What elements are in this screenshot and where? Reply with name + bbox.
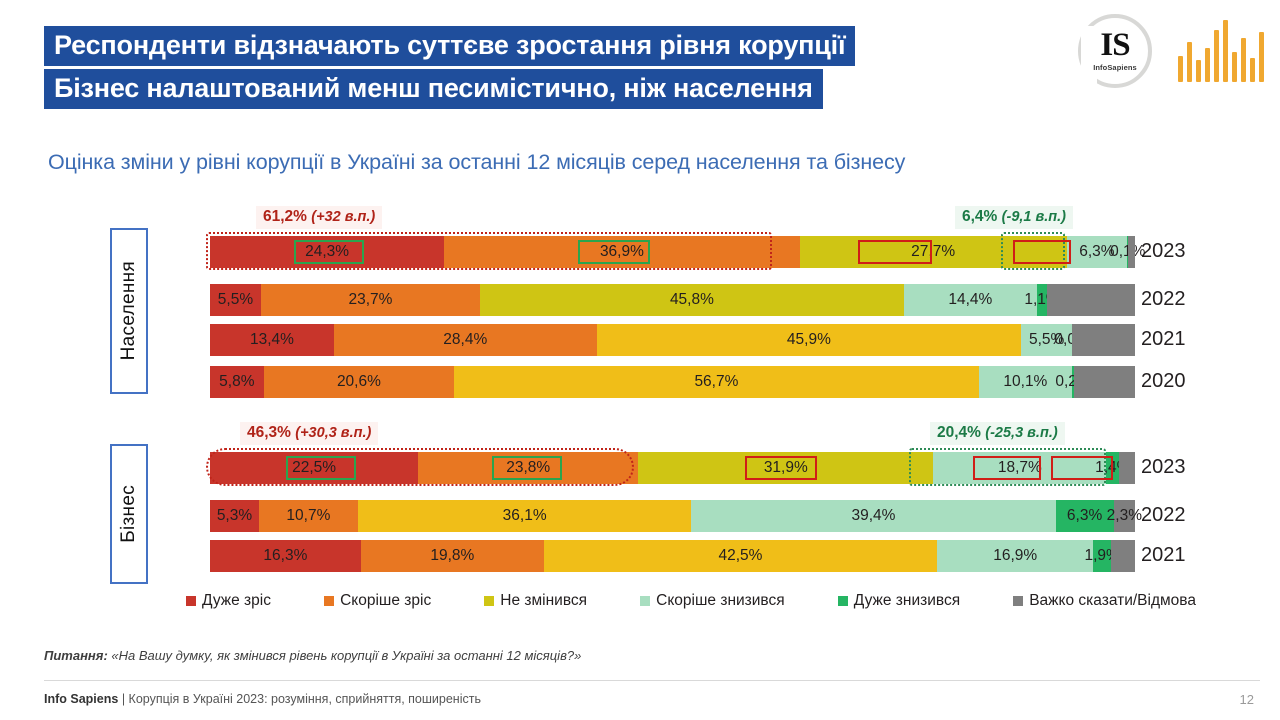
row-year-label: 2021 [1141,544,1186,567]
segment-value-label: 20,6% [337,373,381,391]
chart-legend: Дуже зрісСкоріше зрісНе змінивсяСкоріше … [186,592,1196,610]
group-label-business: Бізнес [110,444,148,584]
bar-segment: 19,8% [361,540,544,572]
row-year-label: 2023 [1141,240,1186,263]
chart-subtitle: Оцінка зміни у рівні корупції в Україні … [48,150,905,175]
bar-segment: 1,4% [1106,452,1119,484]
segment-value-label: 5,8% [219,373,254,391]
title-line-2: Бізнес налаштований менш песимістично, н… [44,69,823,109]
legend-item[interactable]: Не змінився [484,592,587,610]
chart-row: 13,4%28,4%45,9%5,5%0,0% [210,324,1135,356]
logo-subtext: InfoSapiens [1093,63,1137,72]
segment-value-label: 6,3% [1067,507,1102,525]
row-year-label: 2022 [1141,288,1186,311]
segment-value-label: 10,1% [1003,373,1047,391]
legend-label: Скоріше зріс [340,592,431,610]
bar-segment: 13,4% [210,324,334,356]
legend-swatch-icon [838,596,848,606]
bar-segment: 27,7% [800,236,1067,268]
bar-segment [1047,284,1135,316]
stacked-bar-chart: Населення Бізнес 61,2% (+32 в.п.) 6,4% (… [0,196,1280,626]
group-label-population: Населення [110,228,148,394]
infosapiens-logo: IS InfoSapiens [1078,14,1152,88]
segment-value-label: 22,5% [292,459,336,477]
bar-segment: 42,5% [544,540,937,572]
equalizer-bars-icon [1178,20,1264,82]
bar-segment: 31,9% [638,452,933,484]
bar-segment: 39,4% [691,500,1055,532]
bar-segment: 5,8% [210,366,264,398]
footer-divider [44,680,1260,681]
segment-value-label: 31,9% [764,459,808,477]
chart-row: 5,3%10,7%36,1%39,4%6,3%2,3% [210,500,1135,532]
footer-subject: Корупція в Україні 2023: розуміння, спри… [129,692,481,706]
callout-business-increase: 46,3% (+30,3 в.п.) [240,422,378,445]
callout-population-decrease: 6,4% (-9,1 в.п.) [955,206,1073,229]
legend-swatch-icon [484,596,494,606]
legend-item[interactable]: Скоріше знизився [640,592,785,610]
legend-label: Скоріше знизився [656,592,785,610]
question-note: Питання: «На Вашу думку, як змінився рів… [44,648,581,663]
stacked-bar: 13,4%28,4%45,9%5,5%0,0% [210,324,1135,356]
segment-value-label: 5,3% [217,507,252,525]
bar-segment: 1,9% [1093,540,1111,572]
legend-item[interactable]: Дуже зріс [186,592,271,610]
bar-segment: 16,9% [937,540,1093,572]
segment-value-label: 23,7% [349,291,393,309]
segment-value-label: 14,4% [948,291,992,309]
legend-swatch-icon [324,596,334,606]
stacked-bar: 16,3%19,8%42,5%16,9%1,9% [210,540,1135,572]
bar-segment: 18,7% [933,452,1106,484]
chart-row: 5,8%20,6%56,7%10,1%0,2% [210,366,1135,398]
stacked-bar: 5,3%10,7%36,1%39,4%6,3%2,3% [210,500,1135,532]
legend-label: Не змінився [500,592,587,610]
title-line-1: Респонденти відзначають суттєве зростанн… [44,26,855,66]
legend-label: Дуже знизився [854,592,960,610]
bar-segment: 45,8% [480,284,904,316]
legend-label: Дуже зріс [202,592,271,610]
segment-value-label: 2,3% [1107,507,1142,525]
segment-value-label: 18,7% [998,459,1042,477]
segment-value-label: 39,4% [851,507,895,525]
footer-text: Info Sapiens | Корупція в Україні 2023: … [44,692,481,706]
bar-segment: 28,4% [334,324,597,356]
bar-segment: 5,3% [210,500,259,532]
bar-segment: 2,3% [1114,500,1135,532]
segment-value-label: 45,8% [670,291,714,309]
logo-monogram: IS [1100,30,1129,61]
segment-value-label: 5,5% [218,291,253,309]
logo-area: IS InfoSapiens [1078,14,1264,88]
chart-row: 5,5%23,7%45,8%14,4%1,1% [210,284,1135,316]
legend-item[interactable]: Дуже знизився [838,592,960,610]
segment-value-label: 42,5% [718,547,762,565]
chart-row: 24,3%36,9%27,7%6,3%0,1% [210,236,1135,268]
row-year-label: 2022 [1141,504,1186,527]
bar-segment [1111,540,1135,572]
stacked-bar: 5,8%20,6%56,7%10,1%0,2% [210,366,1135,398]
bar-segment [1119,452,1135,484]
question-prefix: Питання: [44,648,108,663]
callout-business-decrease: 20,4% (-25,3 в.п.) [930,422,1065,445]
bar-segment: 24,3% [210,236,444,268]
chart-row: 22,5%23,8%31,9%18,7%1,4% [210,452,1135,484]
bar-segment: 23,7% [261,284,480,316]
callout-population-increase: 61,2% (+32 в.п.) [256,206,382,229]
legend-item[interactable]: Скоріше зріс [324,592,431,610]
row-year-label: 2020 [1141,370,1186,393]
legend-swatch-icon [640,596,650,606]
bar-segment [1074,366,1135,398]
bar-segment: 6,3% [1056,500,1114,532]
bar-segment: 56,7% [454,366,978,398]
legend-label: Важко сказати/Відмова [1029,592,1196,610]
footer-separator: | [122,692,125,706]
stacked-bar: 5,5%23,7%45,8%14,4%1,1% [210,284,1135,316]
bar-segment: 36,9% [444,236,800,268]
bar-segment: 16,3% [210,540,361,572]
question-text: «На Вашу думку, як змінився рівень коруп… [111,648,581,663]
segment-value-label: 27,7% [911,243,955,261]
bar-segment: 23,8% [418,452,638,484]
chart-row: 16,3%19,8%42,5%16,9%1,9% [210,540,1135,572]
segment-value-label: 16,9% [993,547,1037,565]
segment-value-label: 19,8% [430,547,474,565]
bar-segment: 14,4% [904,284,1037,316]
segment-value-label: 45,9% [787,331,831,349]
legend-item[interactable]: Важко сказати/Відмова [1013,592,1196,610]
segment-value-label: 23,8% [506,459,550,477]
bar-segment: 5,5% [210,284,261,316]
bar-segment: 1,1% [1037,284,1047,316]
segment-value-label: 36,9% [600,243,644,261]
legend-swatch-icon [1013,596,1023,606]
stacked-bar: 22,5%23,8%31,9%18,7%1,4% [210,452,1135,484]
bar-segment [1072,324,1135,356]
legend-swatch-icon [186,596,196,606]
segment-value-label: 10,7% [286,507,330,525]
segment-value-label: 16,3% [263,547,307,565]
slide-title: Респонденти відзначають суттєве зростанн… [44,26,855,109]
bar-segment: 45,9% [597,324,1022,356]
segment-value-label: 13,4% [250,331,294,349]
row-year-label: 2021 [1141,328,1186,351]
segment-value-label: 56,7% [694,373,738,391]
bar-segment [1128,236,1135,268]
footer-brand: Info Sapiens [44,692,118,706]
row-year-label: 2023 [1141,456,1186,479]
bar-segment: 22,5% [210,452,418,484]
segment-value-label: 36,1% [503,507,547,525]
bar-segment: 10,7% [259,500,358,532]
segment-value-label: 24,3% [305,243,349,261]
stacked-bar: 24,3%36,9%27,7%6,3%0,1% [210,236,1135,268]
bar-segment: 36,1% [358,500,692,532]
segment-value-label: 28,4% [443,331,487,349]
page-number: 12 [1240,692,1254,707]
bar-segment: 20,6% [264,366,455,398]
